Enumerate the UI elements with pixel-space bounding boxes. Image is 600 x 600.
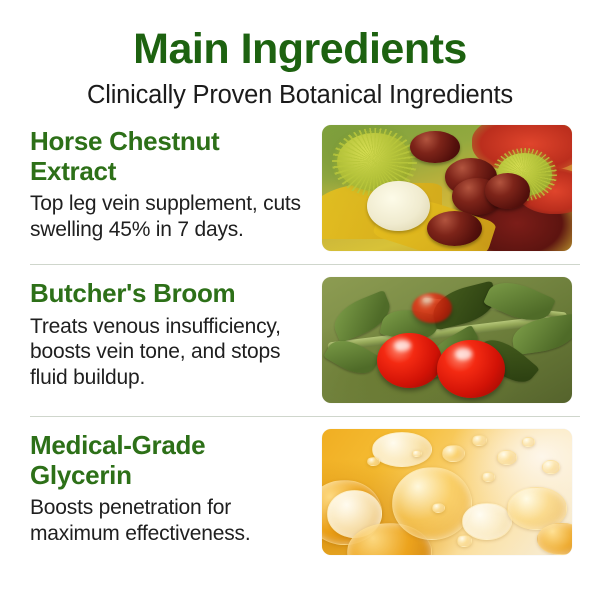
- ingredients-infographic: Main Ingredients Clinically Proven Botan…: [0, 0, 600, 600]
- ingredient-description: Top leg vein supplement, cuts swelling 4…: [30, 191, 312, 242]
- page-subtitle: Clinically Proven Botanical Ingredients: [0, 81, 600, 109]
- horse-chestnut-photo: [322, 125, 572, 251]
- ingredient-description: Boosts penetration for maximum effective…: [30, 495, 312, 546]
- ingredient-item-butchers-broom: Butcher's Broom Treats venous insufficie…: [0, 277, 600, 403]
- ingredient-text-block: Medical-Grade Glycerin Boosts penetratio…: [30, 429, 312, 546]
- ingredient-image-horse-chestnut: [322, 125, 572, 251]
- ingredient-text-block: Butcher's Broom Treats venous insufficie…: [30, 277, 312, 390]
- ingredient-item-medical-grade-glycerin: Medical-Grade Glycerin Boosts penetratio…: [0, 429, 600, 555]
- ingredient-item-horse-chestnut-extract: Horse Chestnut Extract Top leg vein supp…: [0, 125, 600, 251]
- header: Main Ingredients Clinically Proven Botan…: [0, 0, 600, 109]
- ingredient-list: Horse Chestnut Extract Top leg vein supp…: [0, 125, 600, 555]
- page-title: Main Ingredients: [0, 26, 600, 72]
- ingredient-name: Butcher's Broom: [30, 279, 312, 308]
- butchers-broom-photo: [322, 277, 572, 403]
- ingredient-image-glycerin: [322, 429, 572, 555]
- section-divider: [30, 416, 580, 417]
- ingredient-text-block: Horse Chestnut Extract Top leg vein supp…: [30, 125, 312, 242]
- ingredient-image-butchers-broom: [322, 277, 572, 403]
- ingredient-name: Horse Chestnut Extract: [30, 127, 312, 186]
- ingredient-description: Treats venous insufficiency, boosts vein…: [30, 314, 312, 391]
- ingredient-name: Medical-Grade Glycerin: [30, 431, 312, 490]
- glycerin-oil-photo: [322, 429, 572, 555]
- section-divider: [30, 264, 580, 265]
